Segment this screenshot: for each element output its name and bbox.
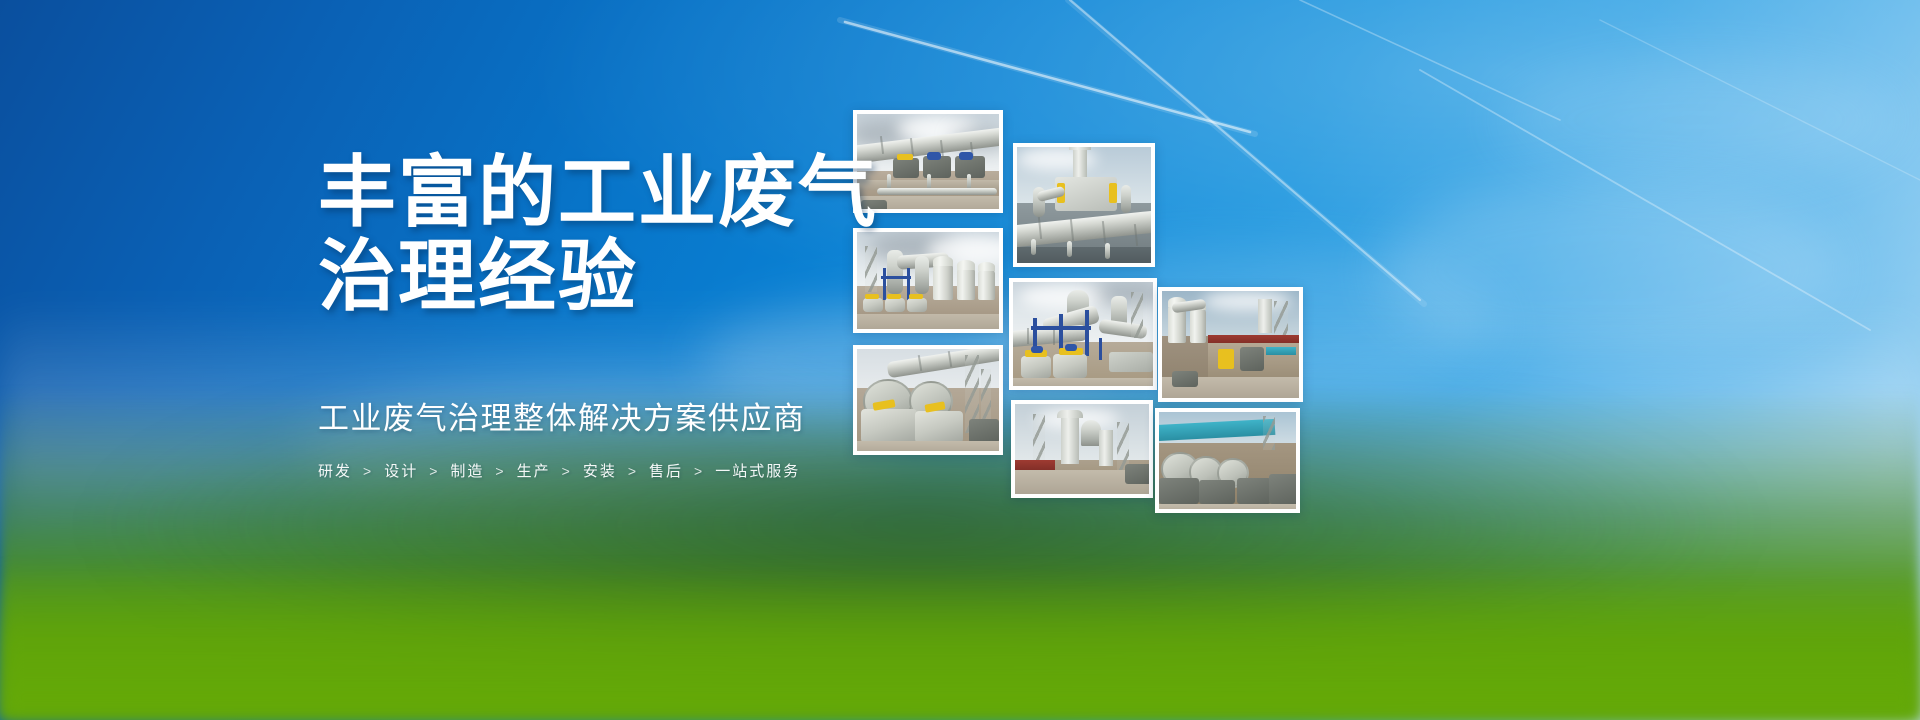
- process-step-production: 生产: [517, 460, 551, 481]
- process-step-research: 研发: [318, 460, 352, 481]
- step-separator-icon: >: [429, 463, 439, 479]
- step-separator-icon: >: [694, 463, 704, 479]
- step-separator-icon: >: [363, 463, 373, 479]
- subtitle: 工业废气治理整体解决方案供应商: [318, 318, 958, 438]
- photo-rto-unit[interactable]: [1013, 143, 1155, 267]
- field-foreground: [0, 570, 1920, 720]
- photo-stack-plant[interactable]: [1011, 400, 1153, 498]
- hero-text-block: 丰富的工业废气 治理经验 工业废气治理整体解决方案供应商 研发 > 设计 > 制…: [318, 150, 958, 481]
- process-step-design: 设计: [384, 460, 418, 481]
- process-step-onestop-service: 一站式服务: [715, 460, 800, 481]
- hero-banner: 丰富的工业废气 治理经验 工业废气治理整体解决方案供应商 研发 > 设计 > 制…: [0, 0, 1920, 720]
- step-separator-icon: >: [628, 463, 638, 479]
- process-step-aftersales: 售后: [649, 460, 683, 481]
- process-steps: 研发 > 设计 > 制造 > 生产 > 安装 > 售后 > 一站式服务: [318, 438, 958, 481]
- headline-line-1: 丰富的工业废气: [318, 148, 878, 236]
- step-separator-icon: >: [562, 463, 572, 479]
- process-step-installation: 安装: [583, 460, 617, 481]
- process-step-manufacture: 制造: [450, 460, 484, 481]
- page-title: 丰富的工业废气 治理经验: [318, 150, 958, 318]
- photo-blue-frame-ducts[interactable]: [1009, 278, 1157, 390]
- step-separator-icon: >: [495, 463, 505, 479]
- headline-line-2: 治理经验: [318, 234, 958, 318]
- photo-equipment-yard[interactable]: [1155, 408, 1300, 513]
- photo-plant-exterior[interactable]: [1158, 287, 1303, 402]
